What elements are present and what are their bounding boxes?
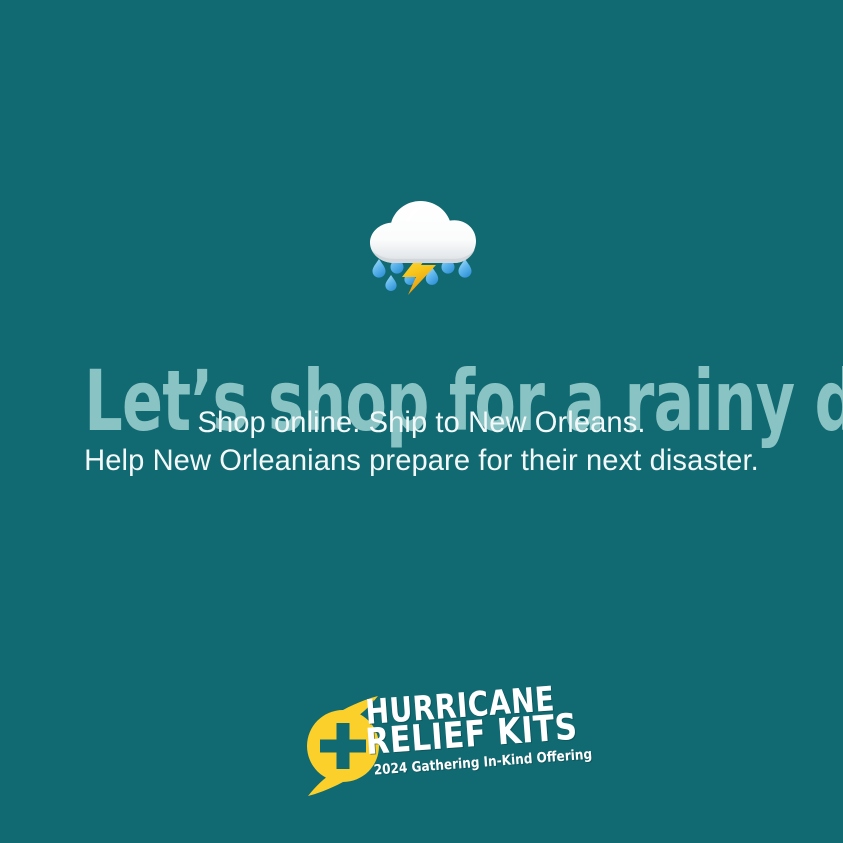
subtitle: Shop online. Ship to New Orleans. Help N… (0, 404, 843, 480)
poster-canvas: Let’s shop for a rainy day. Shop online.… (0, 0, 843, 843)
weather-emoji-container (0, 196, 843, 296)
cloud-shape (370, 201, 476, 263)
hurricane-relief-kits-logo: HURRICANE RELIEF KITS 2024 Gathering In-… (296, 692, 558, 800)
logo-wordmark: HURRICANE RELIEF KITS 2024 Gathering In-… (364, 678, 563, 800)
subtitle-line-2: Help New Orleanians prepare for their ne… (13, 442, 831, 480)
cloud-with-lightning-and-rain-icon (364, 197, 480, 295)
subtitle-line-1: Shop online. Ship to New Orleans. (13, 404, 831, 442)
